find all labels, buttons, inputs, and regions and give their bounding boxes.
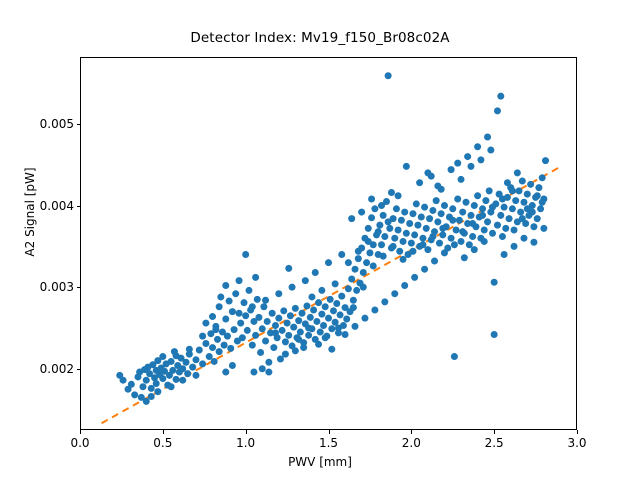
x-tick-label: 2.0 — [402, 436, 421, 450]
x-tick-label: 1.0 — [236, 436, 255, 450]
x-tick-mark — [246, 430, 247, 434]
x-tick-mark — [577, 430, 578, 434]
x-tick-mark — [329, 430, 330, 434]
y-tick-label: 0.003 — [40, 280, 74, 294]
plot-axes-frame — [80, 57, 577, 430]
x-tick-mark — [163, 430, 164, 434]
scatter-plot-figure: Detector Index: Mv19_f150_Br08c02A 0.00.… — [0, 0, 640, 480]
y-tick-label: 0.004 — [40, 199, 74, 213]
x-tick-label: 2.5 — [485, 436, 504, 450]
y-tick-mark — [77, 206, 81, 207]
x-tick-label: 0.5 — [153, 436, 172, 450]
y-tick-label: 0.002 — [40, 362, 74, 376]
x-tick-mark — [494, 430, 495, 434]
x-tick-mark — [80, 430, 81, 434]
y-tick-label: 0.005 — [40, 117, 74, 131]
page-title: Detector Index: Mv19_f150_Br08c02A — [0, 30, 640, 46]
x-tick-label: 3.0 — [567, 436, 586, 450]
x-axis-label: PWV [mm] — [0, 455, 640, 469]
x-tick-label: 0.0 — [70, 436, 89, 450]
y-tick-mark — [77, 369, 81, 370]
y-axis-label: A2 Signal [pW] — [23, 112, 37, 312]
x-tick-label: 1.5 — [319, 436, 338, 450]
x-tick-mark — [411, 430, 412, 434]
y-tick-mark — [77, 124, 81, 125]
y-tick-mark — [77, 287, 81, 288]
